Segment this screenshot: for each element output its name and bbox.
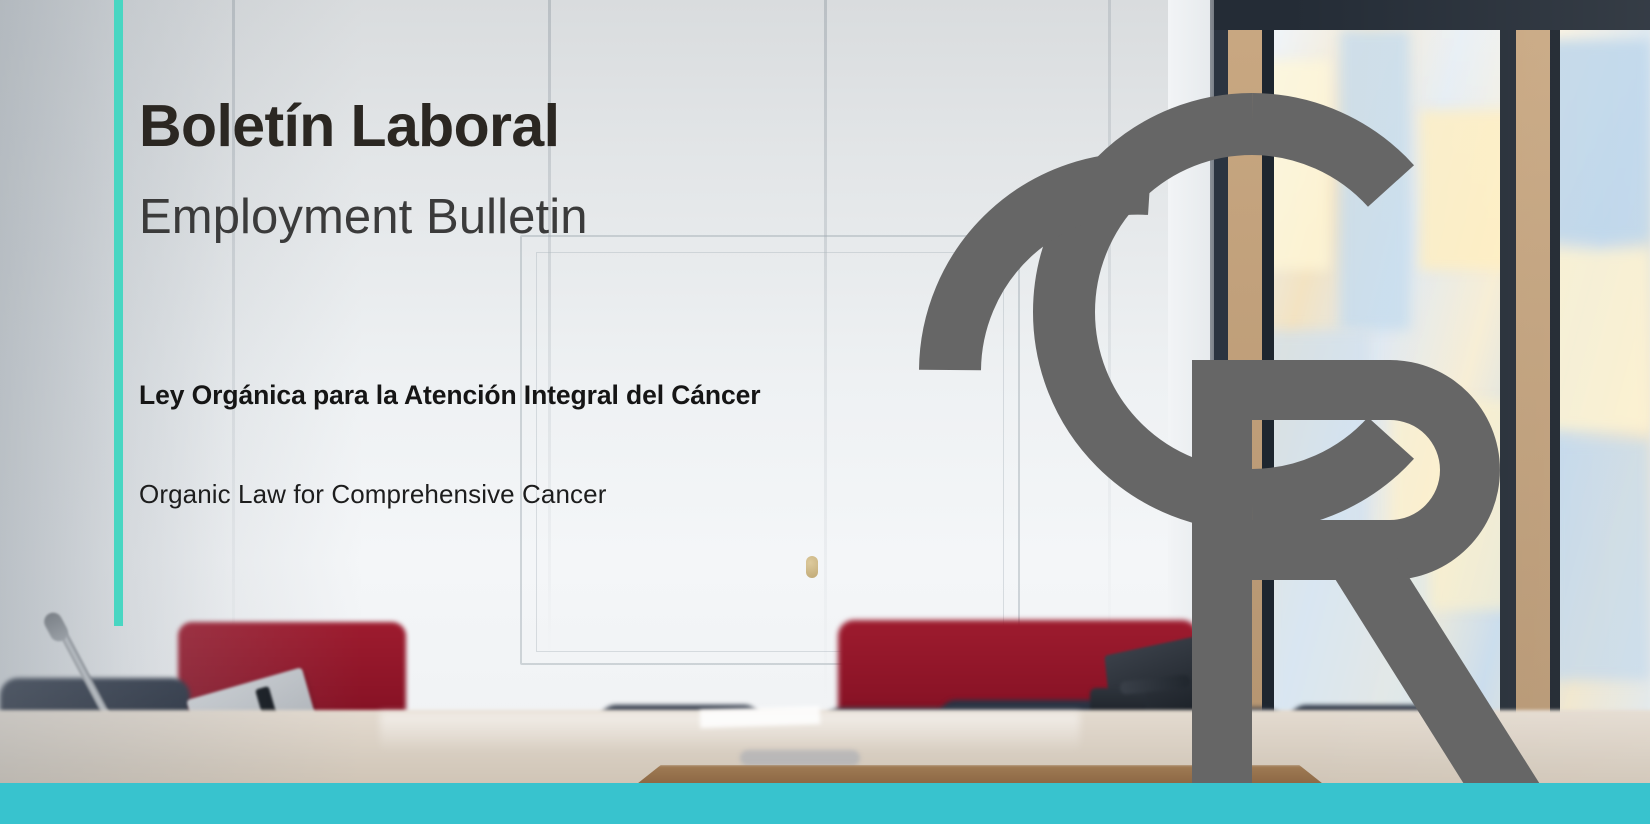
bulletin-banner: Boletín Laboral Employment Bulletin Ley … [0, 0, 1650, 824]
topic-title-english: Organic Law for Comprehensive Cancer [139, 478, 839, 511]
topic-title-spanish: Ley Orgánica para la Atención Integral d… [139, 379, 799, 412]
page-title: Boletín Laboral [139, 96, 559, 158]
teal-accent-bar [114, 0, 123, 626]
bottom-teal-band [0, 783, 1650, 824]
page-subtitle: Employment Bulletin [139, 191, 588, 245]
